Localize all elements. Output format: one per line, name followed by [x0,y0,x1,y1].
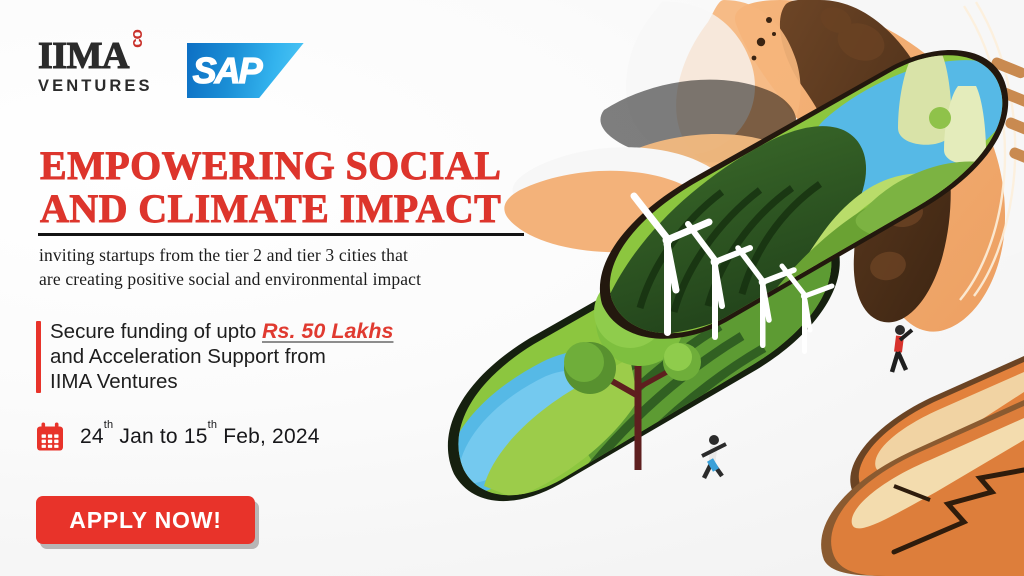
subtitle-line-1: inviting startups from the tier 2 and ti… [39,245,408,265]
logo-row: IIMA co VENTURES SAP [38,38,304,98]
date-start-ordinal: th [104,419,114,431]
person-hiker [892,325,912,372]
funding-line-2: and Acceleration Support from [50,344,506,369]
date-start-day: 24 [80,425,104,448]
funding-lead-text: Secure funding of upto [50,320,262,343]
headline-line-1: EMPOWERING SOCIAL [40,143,501,188]
iima-ventures-subtext: VENTURES [38,77,153,96]
person-runner [702,435,726,478]
sap-logo: SAP [187,43,304,98]
funding-line-3: IIMA Ventures [50,369,506,394]
title-divider [38,233,524,236]
content-pane: IIMA co VENTURES SAP EMPOWERING SOCIAL A… [0,0,560,576]
subtitle: inviting startups from the tier 2 and ti… [39,243,539,291]
date-end-ordinal: th [208,419,218,431]
funding-block: Secure funding of upto Rs. 50 Lakhs and … [36,319,506,394]
funding-line-1: Secure funding of upto Rs. 50 Lakhs [50,319,506,344]
date-row: 24th Jan to 15th Feb, 2024 [36,422,320,451]
date-end-month: Feb, 2024 [217,425,319,448]
sap-wordmark: SAP [193,50,261,92]
iima-wordmark: IIMA [38,35,129,77]
page-title: EMPOWERING SOCIAL AND CLIMATE IMPACT [40,144,540,230]
date-end-day: 15 [184,425,208,448]
shoe-soles-bottom-right [821,356,1024,576]
date-start-month: Jan to [113,425,183,448]
subtitle-line-2: are creating positive social and environ… [39,269,421,289]
headline-line-2: AND CLIMATE IMPACT [40,187,540,230]
iima-ventures-logo: IIMA co VENTURES [38,38,153,96]
funding-amount: Rs. 50 Lakhs [262,319,393,343]
apply-now-button[interactable]: APPLY NOW! [36,496,255,544]
poster-canvas: IIMA co VENTURES SAP EMPOWERING SOCIAL A… [0,0,1024,576]
calendar-icon [36,422,64,451]
event-date-text: 24th Jan to 15th Feb, 2024 [80,425,320,449]
iima-co-mark: co [127,30,147,48]
